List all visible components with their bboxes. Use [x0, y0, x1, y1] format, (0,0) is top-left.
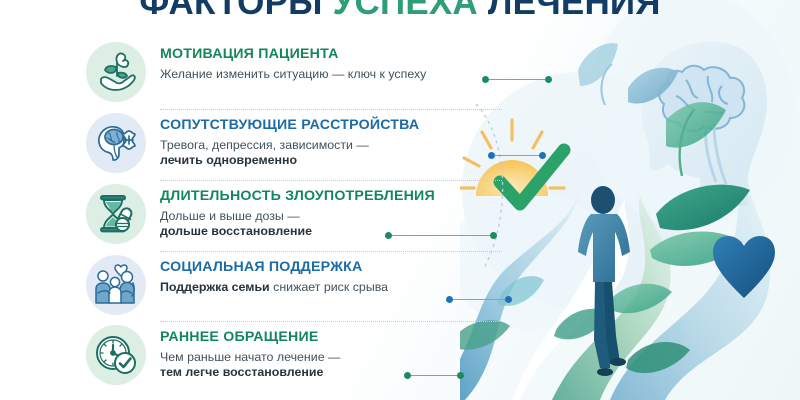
item-separator [160, 251, 502, 252]
item-desc-line1: Чем раньше начато лечение — [160, 350, 340, 364]
item-description: Желание изменить ситуацию — ключ к успех… [160, 67, 426, 83]
connector-dot-start [385, 232, 392, 239]
item-desc-line2: дольше восстановление [160, 224, 312, 238]
connector-dot-start [488, 152, 495, 159]
list-item[interactable]: ДЛИТЕЛЬНОСТЬ ЗЛОУПОТРЕБЛЕНИЯ Дольше и вы… [86, 180, 486, 251]
item-heading: ДЛИТЕЛЬНОСТЬ ЗЛОУПОТРЕБЛЕНИЯ [160, 189, 435, 205]
connector-dot-end [539, 152, 546, 159]
item-separator [160, 109, 502, 110]
list-item[interactable]: РАННЕЕ ОБРАЩЕНИЕ Чем раньше начато лечен… [86, 321, 486, 392]
item-desc-line2: тем легче восстановление [160, 365, 323, 379]
connector-bar [489, 79, 545, 81]
connector-dot-end [505, 296, 512, 303]
item-separator [160, 180, 502, 181]
title-part-1: ФАКТОРЫ [139, 0, 332, 22]
connector-line-3 [385, 232, 497, 239]
clock-check-icon [86, 325, 146, 385]
connector-line-4 [446, 296, 512, 303]
infographic-canvas: ФАКТОРЫ УСПЕХА ЛЕЧЕНИЯ МОТИВАЦИЯ ПАЦИЕНТ [0, 0, 800, 400]
item-description: Поддержка семьи снижает риск срыва [160, 280, 388, 296]
head-brain-plus-icon [86, 113, 146, 173]
connector-bar [411, 375, 457, 377]
item-desc-line1: снижает риск срыва [270, 280, 388, 294]
connector-line-1 [482, 76, 552, 83]
item-heading: МОТИВАЦИЯ ПАЦИЕНТА [160, 47, 426, 63]
family-heart-icon [86, 255, 146, 315]
item-description: Чем раньше начато лечение — тем легче во… [160, 350, 340, 382]
item-separator [160, 321, 502, 322]
connector-bar [392, 235, 490, 237]
list-item[interactable]: СОПУТСТВУЮЩИЕ РАССТРОЙСТВА Тревога, депр… [86, 109, 486, 180]
title-part-2: УСПЕХА [333, 0, 478, 22]
item-desc-line1: Дольше и выше дозы — [160, 209, 300, 223]
item-heading: РАННЕЕ ОБРАЩЕНИЕ [160, 330, 340, 346]
connector-bar [495, 155, 539, 157]
page-title: ФАКТОРЫ УСПЕХА ЛЕЧЕНИЯ [0, 0, 800, 23]
list-item[interactable]: МОТИВАЦИЯ ПАЦИЕНТА Желание изменить ситу… [86, 38, 486, 109]
item-desc-line1: Желание изменить ситуацию — ключ к успех… [160, 67, 426, 81]
hourglass-pills-icon [86, 184, 146, 244]
item-desc-bold: Поддержка семьи [160, 280, 270, 294]
connector-dot-start [446, 296, 453, 303]
item-description: Тревога, депрессия, зависимости — лечить… [160, 138, 419, 170]
connector-dot-end [457, 372, 464, 379]
item-desc-line2: лечить одновременно [160, 153, 297, 167]
hand-plant-heart-icon [86, 42, 146, 102]
connector-dot-end [545, 76, 552, 83]
list-item[interactable]: СОЦИАЛЬНАЯ ПОДДЕРЖКА Поддержка семьи сни… [86, 251, 486, 321]
connector-dot-start [404, 372, 411, 379]
title-part-3: ЛЕЧЕНИЯ [478, 0, 661, 22]
connector-dot-end [490, 232, 497, 239]
connector-line-2 [488, 152, 546, 159]
connector-bar [453, 299, 505, 301]
factors-list: МОТИВАЦИЯ ПАЦИЕНТА Желание изменить ситу… [86, 38, 486, 392]
connector-line-5 [404, 372, 464, 379]
item-desc-line1: Тревога, депрессия, зависимости — [160, 138, 369, 152]
item-heading: СОПУТСТВУЮЩИЕ РАССТРОЙСТВА [160, 118, 419, 134]
item-heading: СОЦИАЛЬНАЯ ПОДДЕРЖКА [160, 260, 388, 276]
connector-dot-start [482, 76, 489, 83]
